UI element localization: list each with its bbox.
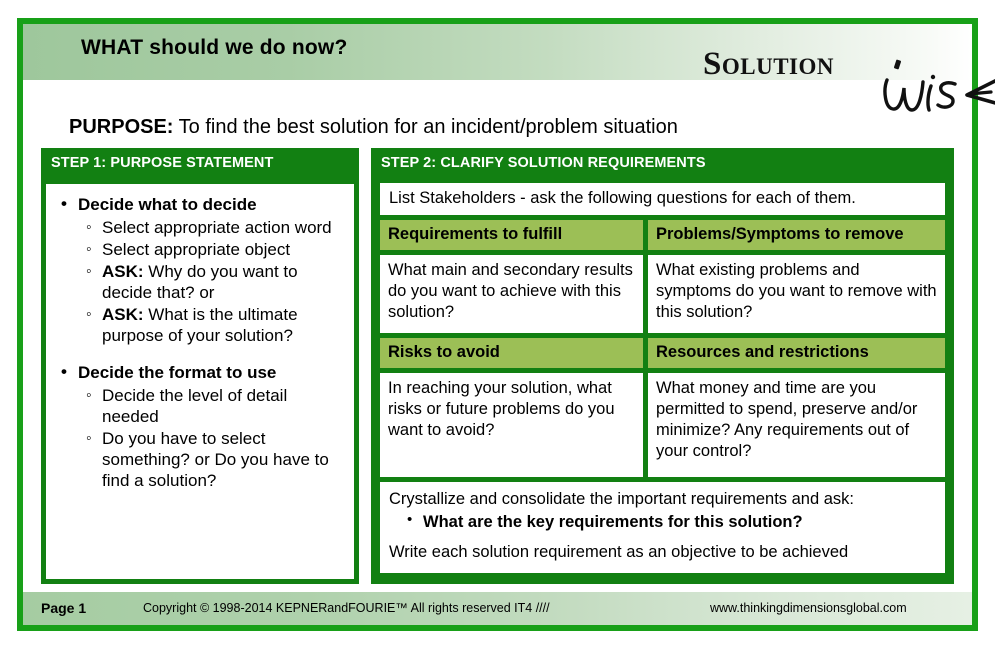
step2-column: STEP 2: CLARIFY SOLUTION REQUIREMENTS Li… — [371, 148, 954, 584]
slide-canvas: WHAT should we do now? Solution PURPOSE:… — [0, 0, 995, 658]
step1-item: ASK: What is the ultimate purpose of you… — [100, 304, 346, 346]
step2-inner: List Stakeholders - ask the following qu… — [376, 179, 949, 579]
quadrant-heading: Resources and restrictions — [648, 338, 945, 368]
write-line: Write each solution requirement as an ob… — [389, 541, 936, 563]
copyright-text: Copyright © 1998-2014 KEPNERandFOURIE™ A… — [143, 601, 550, 615]
page-number: Page 1 — [41, 600, 86, 616]
quadrant-body: In reaching your solution, what risks or… — [380, 373, 643, 477]
step1-column: STEP 1: PURPOSE STATEMENT Decide what to… — [41, 148, 359, 584]
step1-item: Select appropriate action word — [100, 217, 346, 238]
website-url: www.thinkingdimensionsglobal.com — [710, 601, 907, 615]
quadrant-heading: Requirements to fulfill — [380, 220, 643, 250]
quadrant-risks: Risks to avoid In reaching your solution… — [380, 338, 643, 477]
step1-group: Decide the format to use Decide the leve… — [74, 362, 346, 491]
step1-item: ASK: Why do you want to decide that? or — [100, 261, 346, 303]
quadrant-problems: Problems/Symptoms to remove What existin… — [648, 220, 945, 333]
step1-heading: STEP 1: PURPOSE STATEMENT — [41, 148, 359, 179]
slide-frame: WHAT should we do now? Solution PURPOSE:… — [17, 18, 978, 631]
footer-bar: Page 1 Copyright © 1998-2014 KEPNERandFO… — [23, 592, 972, 625]
step2-heading: STEP 2: CLARIFY SOLUTION REQUIREMENTS — [371, 148, 954, 179]
quadrant-heading: Risks to avoid — [380, 338, 643, 368]
quadrant-row-1: Requirements to fulfill What main and se… — [380, 220, 945, 333]
purpose-label: PURPOSE: — [69, 116, 173, 138]
purpose-line: PURPOSE: To find the best solution for a… — [69, 116, 678, 139]
step1-item: Select appropriate object — [100, 239, 346, 260]
step1-item-list: Decide the level of detail needed Do you… — [78, 385, 346, 491]
step1-item-emphasis: ASK: — [102, 305, 144, 324]
stakeholders-line: List Stakeholders - ask the following qu… — [380, 183, 945, 215]
key-question: What are the key requirements for this s… — [389, 510, 936, 534]
quadrant-heading: Problems/Symptoms to remove — [648, 220, 945, 250]
quadrant-body: What main and secondary results do you w… — [380, 255, 643, 333]
spacer — [74, 346, 346, 362]
step1-group-title: Decide what to decide — [78, 195, 257, 214]
step1-item-text: Do you have to select something? or Do y… — [102, 429, 329, 490]
step1-item-list: Select appropriate action word Select ap… — [78, 217, 346, 346]
step1-item-text: Select appropriate object — [102, 240, 290, 259]
step2-body: List Stakeholders - ask the following qu… — [371, 179, 954, 584]
step1-item: Do you have to select something? or Do y… — [100, 428, 346, 491]
step1-item-text: Select appropriate action word — [102, 218, 332, 237]
step1-item: Decide the level of detail needed — [100, 385, 346, 427]
step1-group-list: Decide what to decide Select appropriate… — [54, 194, 346, 491]
step1-group: Decide what to decide Select appropriate… — [74, 194, 346, 346]
page-title: WHAT should we do now? — [81, 36, 347, 60]
logo-wordmark: Solution — [703, 46, 834, 83]
step1-group-title: Decide the format to use — [78, 363, 276, 382]
quadrant-requirements: Requirements to fulfill What main and se… — [380, 220, 643, 333]
quadrant-resources: Resources and restrictions What money an… — [648, 338, 945, 477]
quadrant-body: What money and time are you permitted to… — [648, 373, 945, 477]
crystallize-line: Crystallize and consolidate the importan… — [389, 488, 936, 510]
quadrant-body: What existing problems and symptoms do y… — [648, 255, 945, 333]
logo-script-wise — [879, 64, 995, 124]
solutionwise-logo: Solution — [683, 28, 963, 128]
step1-body: Decide what to decide Select appropriate… — [41, 179, 359, 584]
purpose-text: To find the best solution for an inciden… — [173, 116, 677, 138]
step1-item-emphasis: ASK: — [102, 262, 144, 281]
quadrant-row-2: Risks to avoid In reaching your solution… — [380, 338, 945, 477]
crystallize-block: Crystallize and consolidate the importan… — [380, 482, 945, 573]
step1-item-text: Decide the level of detail needed — [102, 386, 287, 426]
